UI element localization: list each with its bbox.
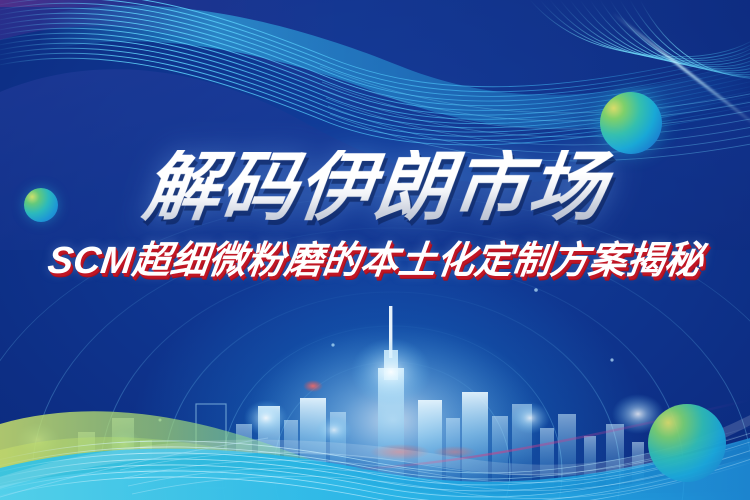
promo-banner: 解码伊朗市场 SCM超细微粉磨的本土化定制方案揭秘: [0, 0, 750, 500]
gradient-sphere-bottom-right: [648, 404, 726, 482]
diagonal-light-line: [0, 438, 268, 500]
skyline-red-accents: [303, 380, 477, 460]
banner-subtitle: SCM超细微粉磨的本土化定制方案揭秘: [45, 242, 704, 280]
central-tower: [351, 306, 431, 488]
arc-dots: [159, 262, 614, 422]
buildings-left: [78, 398, 346, 488]
crest-hairlines: [0, 424, 750, 500]
ribbon-bundle-right: [530, 0, 750, 79]
headline-block: 解码伊朗市场 SCM超细微粉磨的本土化定制方案揭秘: [0, 150, 750, 280]
skyline-central-glow: [243, 322, 543, 500]
wave-cyan-second: [0, 458, 750, 500]
wave-green: [0, 411, 750, 500]
wave-gloss-swoosh: [0, 410, 750, 492]
wave-cyan-main: [0, 438, 750, 500]
wave-green-2: [0, 437, 750, 500]
top-magenta-accent: [0, 0, 300, 7]
buildings-right: [418, 392, 644, 488]
banner-title: 解码伊朗市场: [133, 150, 616, 226]
skyline-point-lights: [16, 394, 664, 458]
